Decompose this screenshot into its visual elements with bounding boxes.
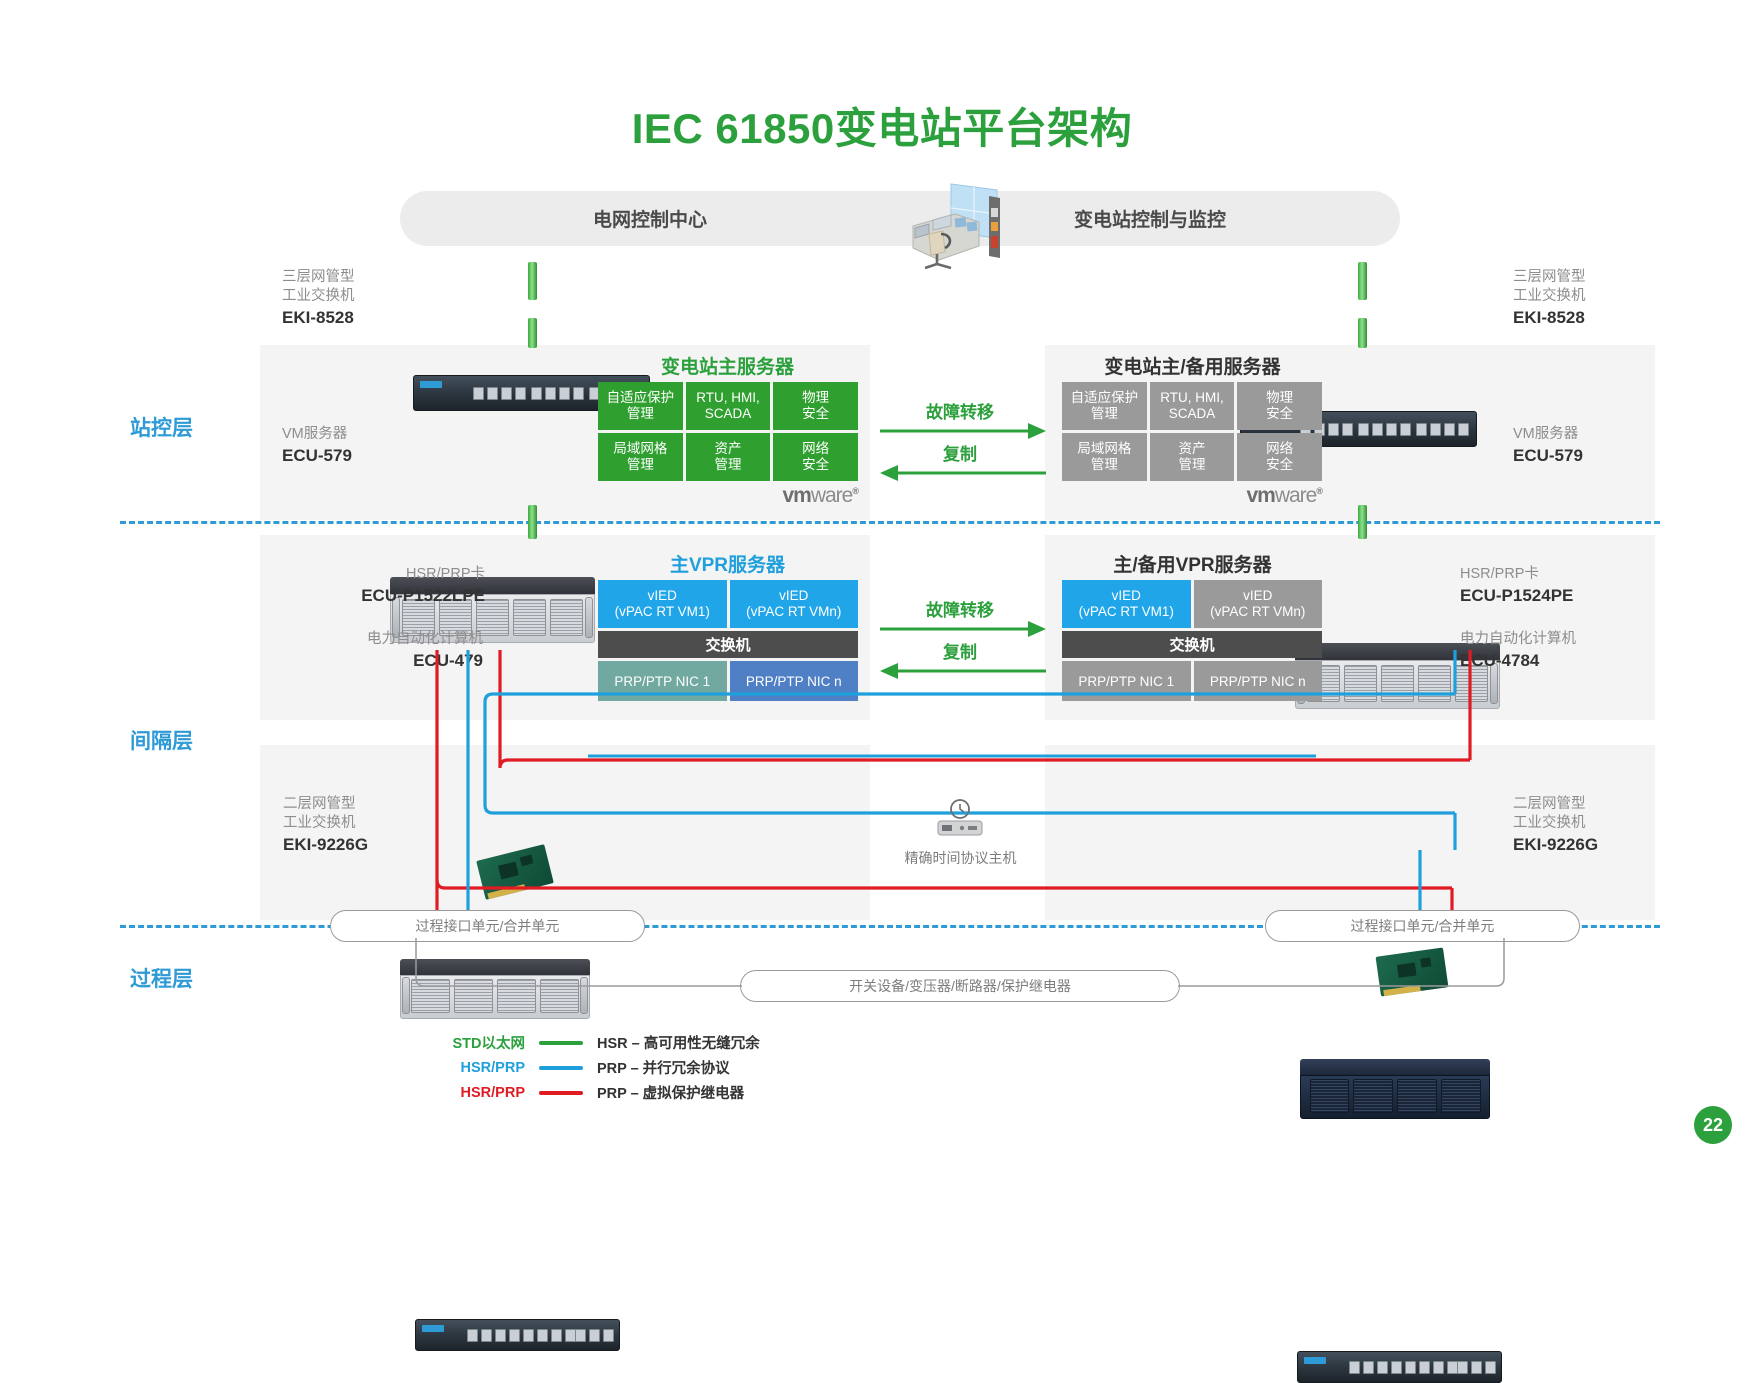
legend-desc: PRP – 并行冗余协议: [597, 1057, 730, 1078]
hsr-card-right-model: ECU-P1524PE: [1460, 586, 1640, 605]
uplink-bar-switch-l3-left-top: [528, 262, 537, 300]
merging-unit-left-label: 过程接口单元/合并单元: [416, 916, 560, 936]
layer-label-station: 站控层: [130, 412, 193, 442]
legend-row: HSR/PRP PRP – 虚拟保护继电器: [430, 1080, 860, 1105]
legend-desc: HSR – 高可用性无缝冗余: [597, 1032, 760, 1053]
process-bus-connectors: [330, 938, 1590, 990]
app-cell[interactable]: 自适应保护管理: [1062, 382, 1147, 430]
vm-server-right-type: VM服务器: [1513, 425, 1633, 444]
diagram-canvas: IEC 61850变电站平台架构 站控层 间隔层 过程层 电网控制中心 变电站控…: [0, 0, 1764, 1172]
app-cell[interactable]: 自适应保护管理: [598, 382, 683, 430]
legend: STD以太网 HSR – 高可用性无缝冗余 HSR/PRP PRP – 并行冗余…: [430, 1030, 860, 1105]
vm-server-left-model: ECU-579: [282, 446, 392, 465]
page-number-badge: 22: [1694, 1106, 1732, 1144]
station-failover-arrow: [880, 420, 1046, 442]
pac-left-type: 电力自动化计算机: [283, 630, 483, 649]
legend-tag: STD以太网: [430, 1032, 525, 1053]
bay-primary-title: 主VPR服务器: [590, 550, 865, 577]
vied-block[interactable]: vIED(vPAC RT VM1): [598, 580, 727, 628]
app-cell[interactable]: 资产管理: [1150, 433, 1235, 481]
clock-icon: [930, 798, 990, 840]
switch-l3-right-type1: 三层网管型: [1513, 268, 1643, 287]
switch-l3-left-type2: 工业交换机: [282, 287, 392, 306]
vm-server-left-caption: VM服务器 ECU-579: [282, 425, 392, 465]
switch-l3-right-model: EKI-8528: [1513, 308, 1643, 327]
vm-server-right-caption: VM服务器 ECU-579: [1513, 425, 1633, 465]
pac-right-type: 电力自动化计算机: [1460, 630, 1660, 649]
legend-swatch: [539, 1041, 583, 1045]
hsr-card-right-caption: HSR/PRP卡 ECU-P1524PE: [1460, 565, 1640, 605]
vied-block[interactable]: vIED(vPAC RT VMn): [730, 580, 859, 628]
vmware-logo-right: vmware®: [1062, 484, 1322, 508]
switch-l2-right-caption: 二层网管型 工业交换机 EKI-9226G: [1513, 795, 1643, 854]
app-cell[interactable]: 局域网格管理: [598, 433, 683, 481]
vmware-logo-left: vmware®: [598, 484, 858, 508]
station-replication-arrow: [880, 462, 1046, 484]
hsr-card-left-model: ECU-P1522LPE: [345, 586, 485, 605]
vm-server-left-type: VM服务器: [282, 425, 392, 444]
app-cell[interactable]: 局域网格管理: [1062, 433, 1147, 481]
legend-tag: HSR/PRP: [430, 1085, 525, 1101]
switch-l2-right-type2: 工业交换机: [1513, 814, 1643, 833]
switch-l2-right-model: EKI-9226G: [1513, 835, 1643, 854]
control-room-icon: [905, 182, 1005, 272]
vied-block[interactable]: vIED(vPAC RT VM1): [1062, 580, 1191, 628]
merging-unit-right-label: 过程接口单元/合并单元: [1351, 916, 1495, 936]
app-cell[interactable]: 网络安全: [1237, 433, 1322, 481]
app-cell[interactable]: 网络安全: [773, 433, 858, 481]
vied-block[interactable]: vIED(vPAC RT VMn): [1194, 580, 1323, 628]
switch-l3-right-type2: 工业交换机: [1513, 287, 1643, 306]
bay-standby-title: 主/备用VPR服务器: [1055, 550, 1330, 577]
control-center-label: 电网控制中心: [400, 205, 900, 232]
hsr-card-right-type: HSR/PRP卡: [1460, 565, 1640, 584]
ptp-host-label: 精确时间协议主机: [838, 848, 1083, 868]
uplink-bar-station-bay-right: [1358, 505, 1367, 539]
switch-l2-right-type1: 二层网管型: [1513, 795, 1643, 814]
station-standby-title: 变电站主/备用服务器: [1055, 352, 1330, 379]
app-cell[interactable]: 资产管理: [686, 433, 771, 481]
switch-l2-left-model: EKI-9226G: [283, 835, 408, 854]
vm-server-right-model: ECU-579: [1513, 446, 1633, 465]
legend-row: HSR/PRP PRP – 并行冗余协议: [430, 1055, 860, 1080]
switch-l2-left-type1: 二层网管型: [283, 795, 408, 814]
legend-row: STD以太网 HSR – 高可用性无缝冗余: [430, 1030, 860, 1055]
legend-swatch: [539, 1066, 583, 1070]
switch-l3-left-type1: 三层网管型: [282, 268, 392, 287]
station-standby-app-grid: 自适应保护管理 RTU, HMI,SCADA 物理安全 局域网格管理 资产管理 …: [1062, 382, 1322, 481]
uplink-bar-switch-l3-right-bottom: [1358, 318, 1367, 348]
station-primary-title: 变电站主服务器: [590, 352, 865, 379]
switch-l3-left-model: EKI-8528: [282, 308, 392, 327]
legend-desc: PRP – 虚拟保护继电器: [597, 1082, 744, 1103]
legend-swatch: [539, 1091, 583, 1095]
station-primary-app-grid: 自适应保护管理 RTU, HMI,SCADA 物理安全 局域网格管理 资产管理 …: [598, 382, 858, 481]
hsr-card-left-caption: HSR/PRP卡 ECU-P1522LPE: [345, 565, 485, 605]
page-title: IEC 61850变电站平台架构: [0, 95, 1764, 156]
app-cell[interactable]: 物理安全: [1237, 382, 1322, 430]
bay-failover-arrow: [880, 618, 1046, 640]
app-cell[interactable]: 物理安全: [773, 382, 858, 430]
separator-station-bay: [120, 521, 1660, 524]
switch-l2-left-type2: 工业交换机: [283, 814, 408, 833]
switch-l3-left-caption: 三层网管型 工业交换机 EKI-8528: [282, 268, 392, 327]
uplink-bar-switch-l3-left-bottom: [528, 318, 537, 348]
switch-l2-left-device: [415, 1319, 620, 1351]
switch-l3-right-caption: 三层网管型 工业交换机 EKI-8528: [1513, 268, 1643, 327]
switch-l2-left-caption: 二层网管型 工业交换机 EKI-9226G: [283, 795, 408, 854]
uplink-bar-station-bay-left: [528, 505, 537, 539]
pac-right-device: [1300, 1059, 1490, 1119]
hsr-card-left-type: HSR/PRP卡: [345, 565, 485, 584]
legend-tag: HSR/PRP: [430, 1060, 525, 1076]
app-cell[interactable]: RTU, HMI,SCADA: [1150, 382, 1235, 430]
app-cell[interactable]: RTU, HMI,SCADA: [686, 382, 771, 430]
vmware-wordmark: vmware®: [1246, 484, 1322, 507]
vmware-wordmark: vmware®: [782, 484, 858, 507]
switch-l2-right-device: [1297, 1351, 1502, 1383]
uplink-bar-switch-l3-right-top: [1358, 262, 1367, 300]
